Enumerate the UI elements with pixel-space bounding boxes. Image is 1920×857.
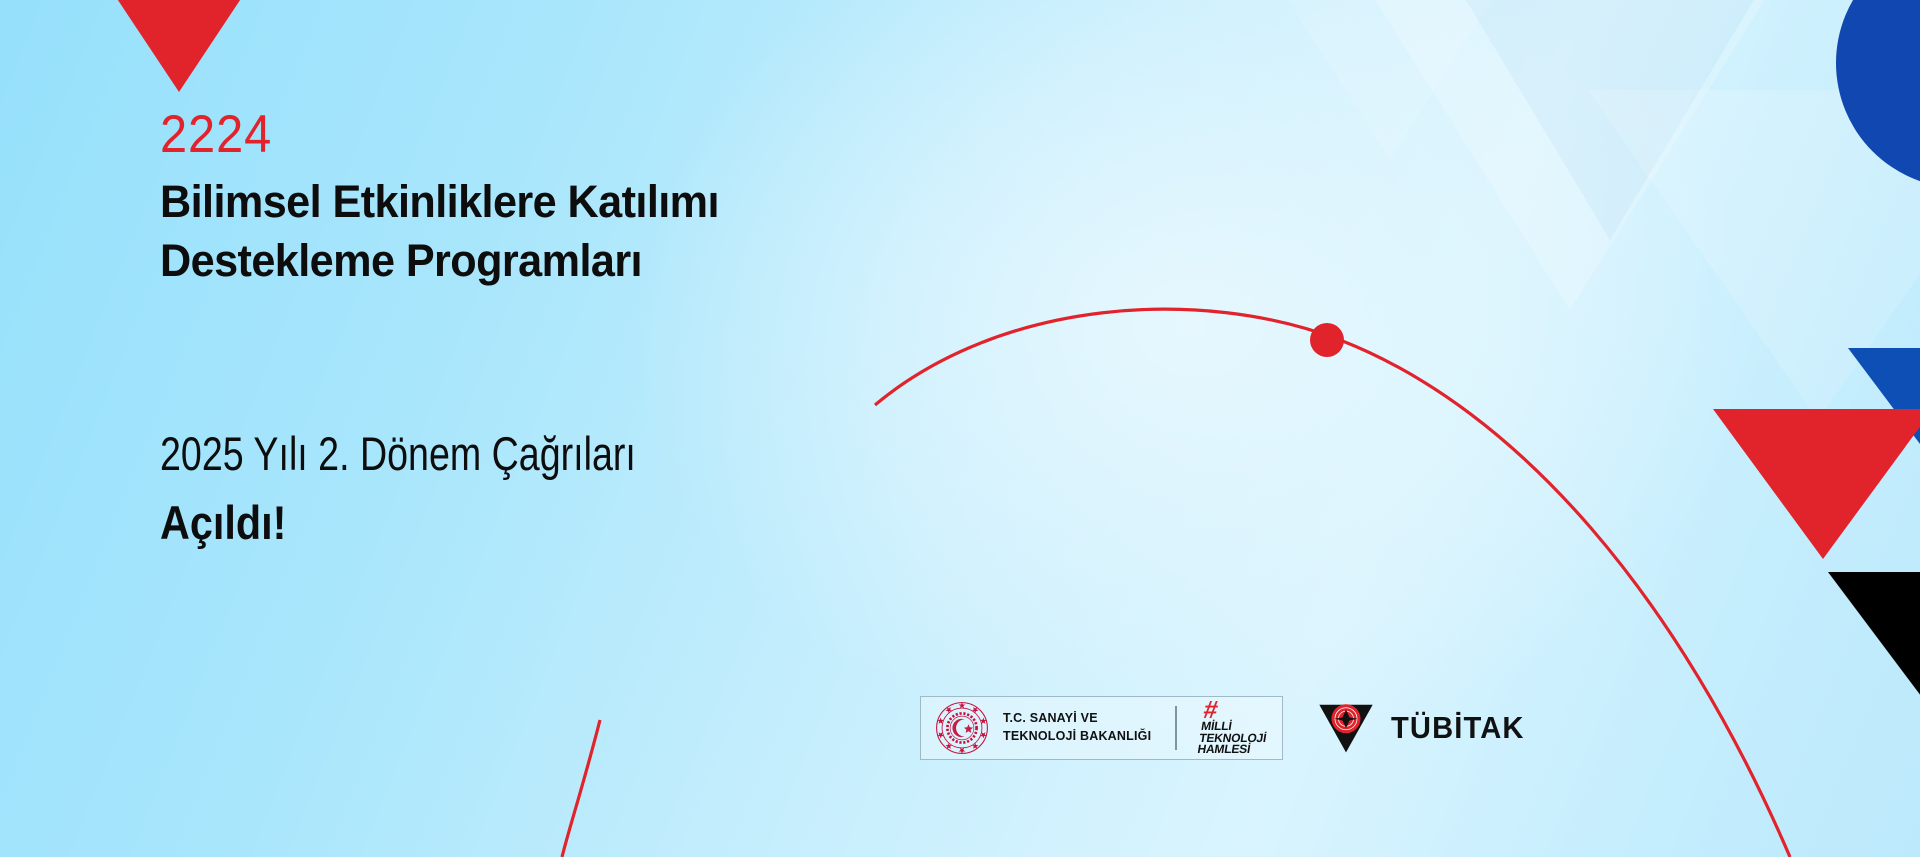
tubitak-logo-block: TÜBİTAK <box>1317 701 1533 755</box>
ministry-logo-block: T.C. SANAYİ VE TEKNOLOJİ BAKANLIĞI # MİL… <box>920 696 1283 760</box>
milli-line-3: HAMLESİ <box>1196 744 1250 756</box>
headline-line-1: Bilimsel Etkinliklere Katılımı <box>160 172 719 231</box>
red-arc-small <box>562 720 600 857</box>
red-arc-main <box>875 309 1790 857</box>
milli-teknoloji-hamlesi-logo: # MİLLİ TEKNOLOJİ HAMLESİ <box>1196 700 1272 756</box>
subtitle-period: 2025 Yılı 2. Dönem Çağrıları <box>160 427 636 481</box>
promo-banner: 2224 Bilimsel Etkinliklere Katılımı Dest… <box>0 0 1920 857</box>
logo-divider <box>1175 706 1177 750</box>
ministry-name: T.C. SANAYİ VE TEKNOLOJİ BAKANLIĞI <box>1003 710 1151 746</box>
hashtag-icon: # <box>1202 700 1219 720</box>
logo-bar: T.C. SANAYİ VE TEKNOLOJİ BAKANLIĞI # MİL… <box>920 696 1533 760</box>
ministry-name-line-2: TEKNOLOJİ BAKANLIĞI <box>1003 728 1151 746</box>
ministry-name-line-1: T.C. SANAYİ VE <box>1003 710 1151 728</box>
tubitak-wordmark: TÜBİTAK <box>1391 710 1525 746</box>
red-dot-marker <box>1310 323 1344 357</box>
page-title: Bilimsel Etkinliklere Katılımı Desteklem… <box>160 172 719 291</box>
program-number: 2224 <box>160 108 272 161</box>
turkish-ministry-emblem-icon <box>935 701 989 755</box>
subtitle-status: Açıldı! <box>160 496 286 550</box>
tubitak-triangle-mark-icon <box>1317 701 1375 755</box>
headline-line-2: Destekleme Programları <box>160 231 719 290</box>
